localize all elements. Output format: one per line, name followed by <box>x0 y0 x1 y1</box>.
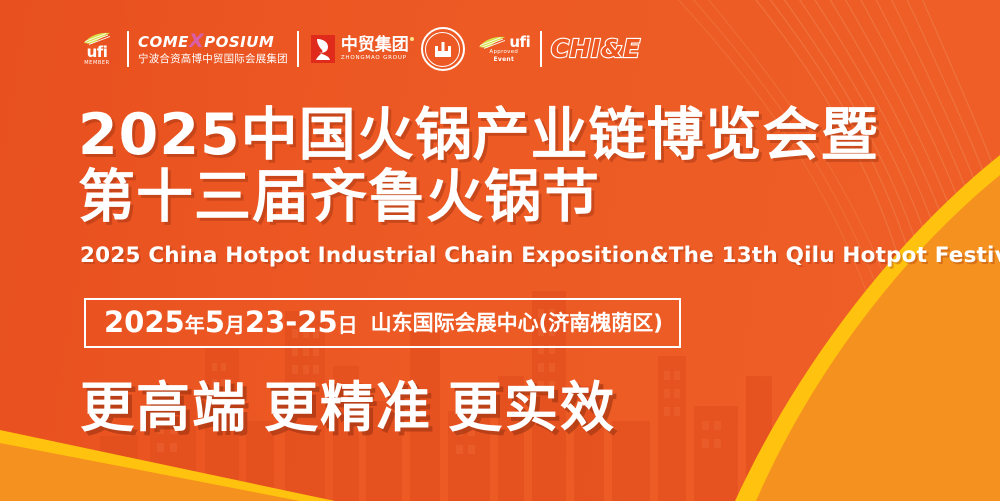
ufi-approved-sublabel-2: Event <box>493 56 514 63</box>
slogan-part-3: 更实效 <box>448 376 616 439</box>
ufi-member-wordmark: ufi <box>87 45 108 60</box>
ufi-member-sublabel: MEMBER <box>84 60 109 67</box>
ufi-approved-wordmark: ufi <box>509 35 530 49</box>
slogan-part-2: 更精准 <box>264 376 432 439</box>
event-subtitle-english: 2025 China Hotpot Industrial Chain Expos… <box>80 243 1000 269</box>
event-banner: ufi MEMBER COMEXPOSIUM 宁波合资高博中贸国际会展集团 <box>0 0 1000 501</box>
logo-divider-2 <box>297 31 299 67</box>
logo-zhongmao-group: 中贸集团 ZHONGMAO GROUP <box>308 24 409 74</box>
event-title: 2025中国火锅产业链博览会暨 第十三届齐鲁火锅节 <box>78 104 938 228</box>
comexposium-word-left: COME <box>138 33 189 51</box>
event-venue: 山东国际会展中心(济南槐荫区) <box>371 311 663 335</box>
shandong-mountain-icon <box>431 37 455 61</box>
logo-divider-1 <box>127 31 129 67</box>
comexposium-word-right: POSIUM <box>204 33 274 51</box>
banner-content: ufi MEMBER COMEXPOSIUM 宁波合资高博中贸国际会展集团 <box>0 0 1000 501</box>
zhongmao-emblem-icon <box>308 33 338 65</box>
comexposium-chinese-name: 宁波合资高博中贸国际会展集团 <box>138 53 288 65</box>
logo-comexposium: COMEXPOSIUM 宁波合资高博中贸国际会展集团 <box>138 24 288 74</box>
logo-shandong-seal <box>421 24 465 74</box>
ufi-approved-sublabel-1: Approved <box>489 49 518 56</box>
event-date: 2025年5月23-25日 <box>104 306 358 341</box>
zhongmao-chinese-name: 中贸集团 <box>341 37 409 54</box>
zhongmao-english-name: ZHONGMAO GROUP <box>341 56 407 62</box>
slogan-part-1: 更高端 <box>80 376 248 439</box>
event-slogan: 更高端更精准更实效 <box>80 377 616 439</box>
event-title-line-1: 2025中国火锅产业链博览会暨 <box>78 104 938 166</box>
comexposium-wordmark: COMEXPOSIUM <box>138 33 274 50</box>
logo-ufi-member: ufi MEMBER <box>76 24 118 74</box>
logo-divider-3 <box>540 31 542 67</box>
comexposium-x-mark: X <box>189 30 204 52</box>
sponsor-logo-strip: ufi MEMBER COMEXPOSIUM 宁波合资高博中贸国际会展集团 <box>76 24 641 74</box>
logo-ufi-approved-event: ufi Approved Event <box>477 24 531 74</box>
ufi-approved-wing-icon <box>477 36 507 50</box>
chie-wordmark: CHI&E <box>551 35 641 63</box>
logo-chie: CHI&E <box>551 24 641 74</box>
event-title-line-2: 第十三届齐鲁火锅节 <box>78 166 938 228</box>
date-venue-box: 2025年5月23-25日 山东国际会展中心(济南槐荫区) <box>84 298 681 348</box>
